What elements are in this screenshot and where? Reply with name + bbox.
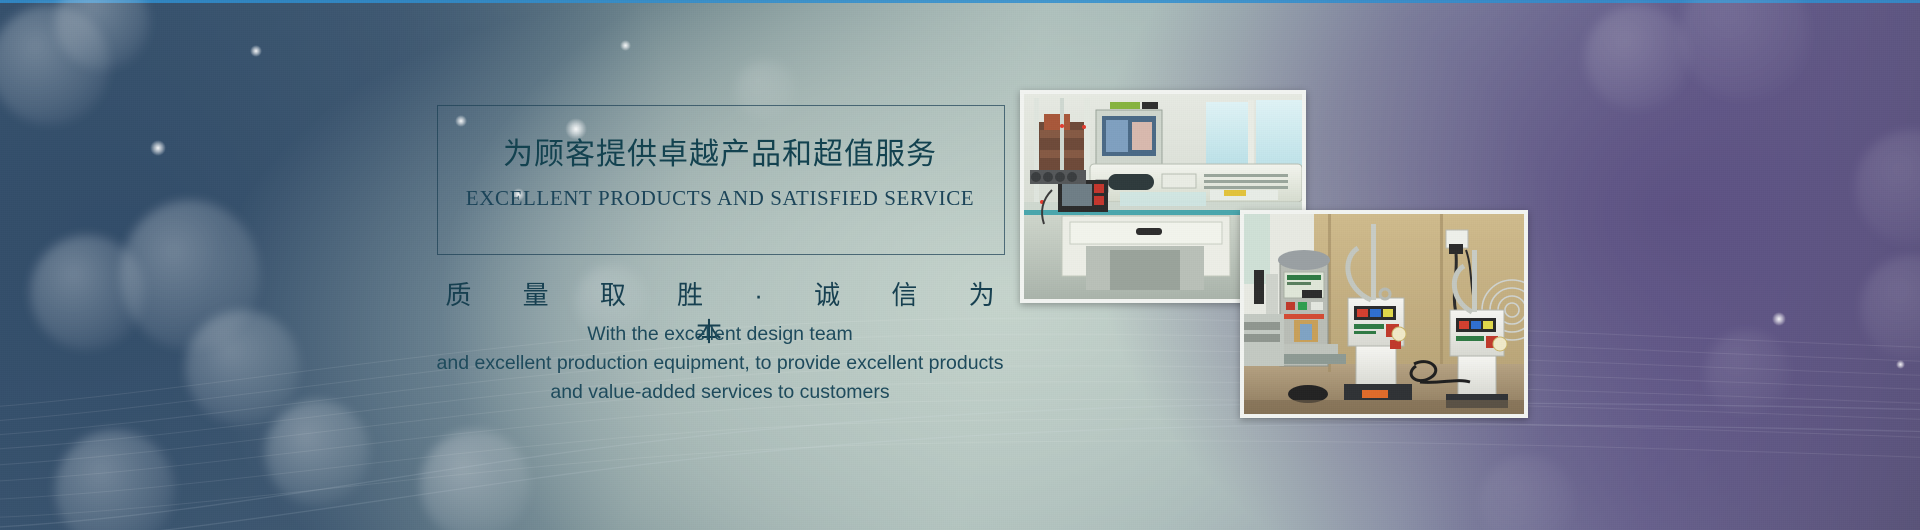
bokeh-circle [1680,0,1810,100]
body-line-2: and excellent production equipment, to p… [360,349,1080,378]
body-copy: With the excellent design team and excel… [360,320,1080,407]
bokeh-circle [1860,255,1920,360]
bokeh-circle [1585,5,1690,110]
body-line-3: and value-added services to customers [360,378,1080,407]
sparkle-dot [620,40,631,51]
sparkle-dot [150,140,166,156]
bokeh-circle [265,400,370,505]
headline-en-subtitle: EXCELLENT PRODUCTS AND SATISFIED SERVICE [437,186,1003,211]
bokeh-circle [420,430,530,530]
press-machines-photo [1240,210,1528,418]
promo-banner: 为顾客提供卓越产品和超值服务 EXCELLENT PRODUCTS AND SA… [0,0,1920,530]
bokeh-circle [1855,130,1920,245]
bokeh-circle [185,310,300,425]
sparkle-dot [1772,312,1786,326]
bokeh-circle [1705,330,1790,415]
body-line-1: With the excellent design team [360,320,1080,349]
bokeh-circle [30,235,145,350]
bokeh-circle [1480,455,1575,530]
bokeh-circle [120,200,260,350]
bokeh-circle [55,0,150,70]
headline-frame [437,105,1005,255]
top-accent-rule [0,0,1920,3]
press-machines-photo-graphic [1244,214,1524,414]
bokeh-decoration [0,0,1920,530]
sparkle-dot [250,45,262,57]
noise-overlay [0,0,1920,530]
headline-zh: 为顾客提供卓越产品和超值服务 [437,129,1003,173]
bokeh-circle [0,5,110,125]
sparkle-dot [1896,360,1905,369]
bokeh-circle [55,430,175,530]
